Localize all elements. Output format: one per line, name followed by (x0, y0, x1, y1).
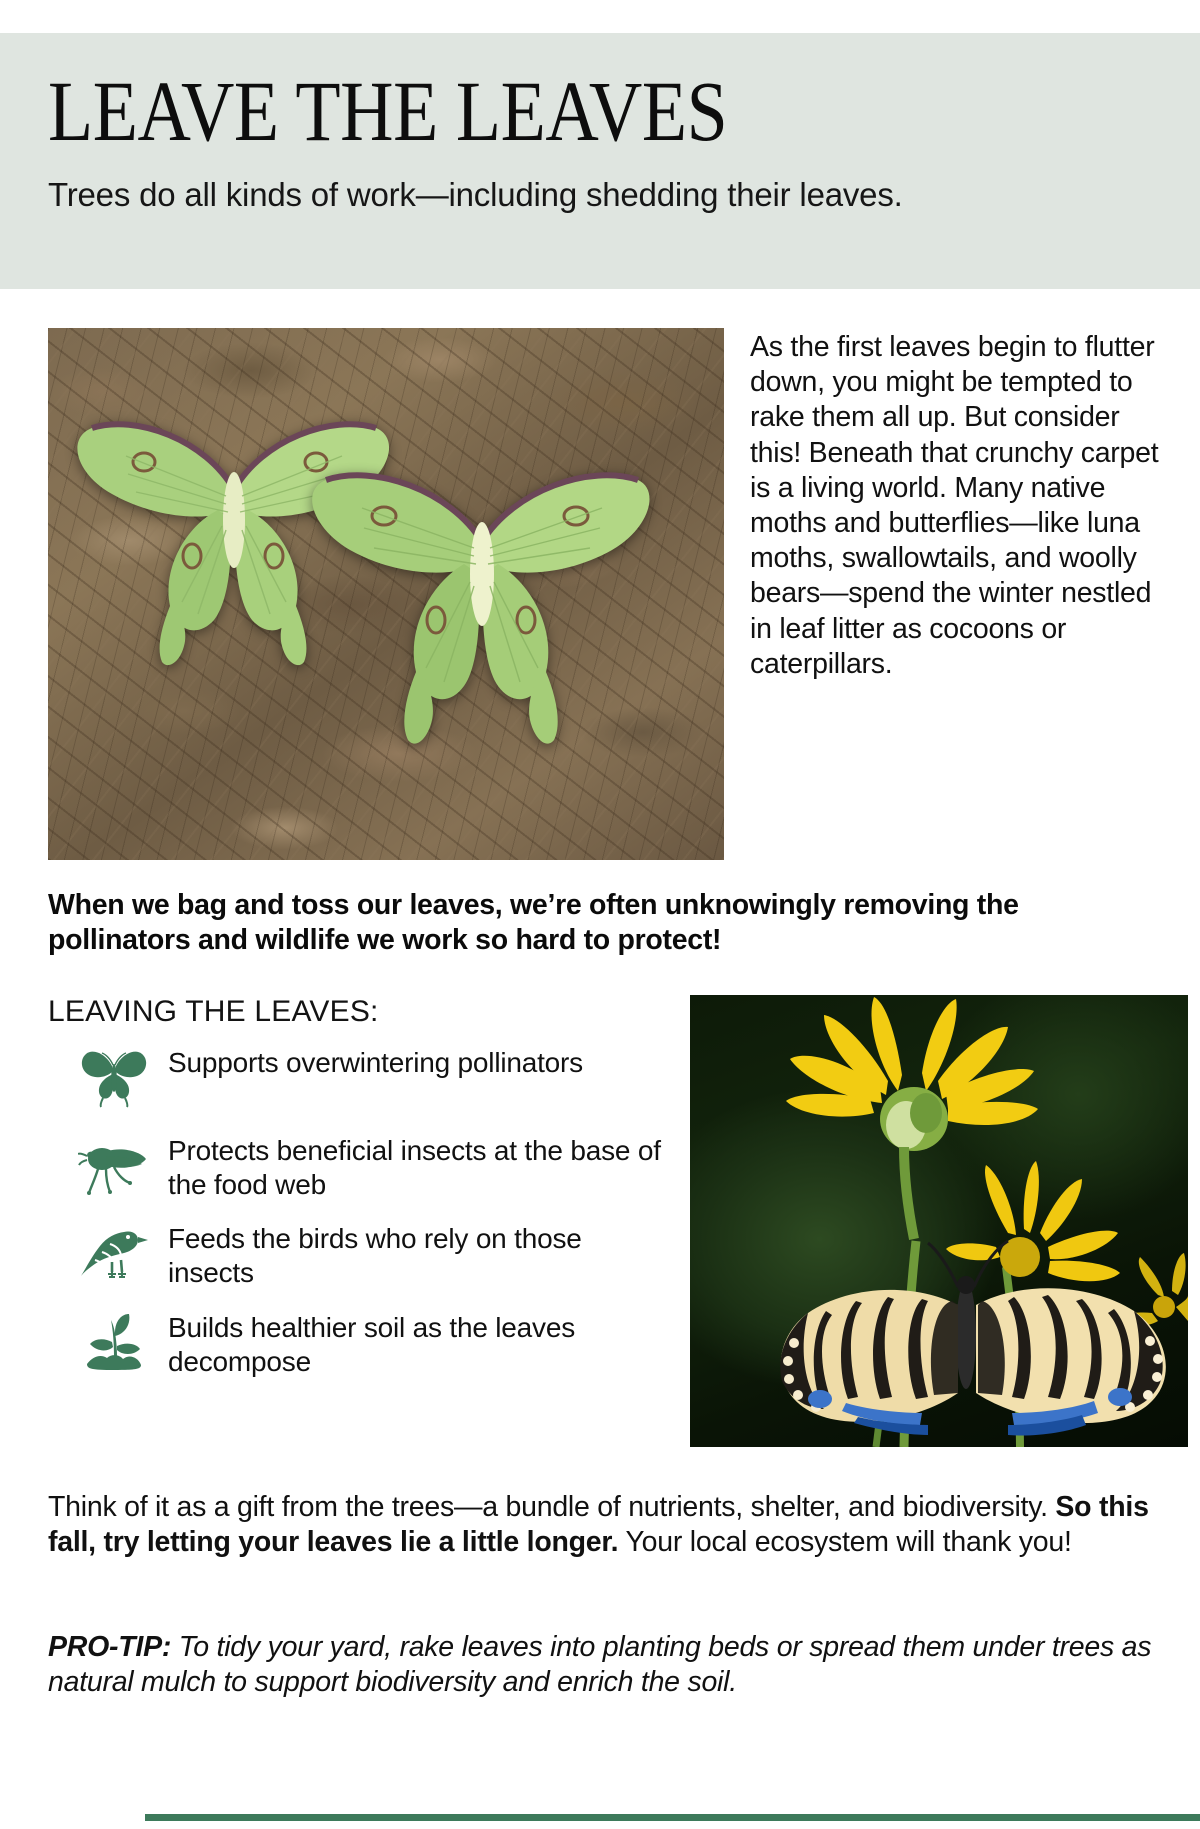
swallowtail-photo (690, 995, 1188, 1447)
intro-section: As the first leaves begin to flutter dow… (48, 328, 1168, 860)
butterfly-icon (76, 1042, 152, 1114)
luna-moth-photo (48, 328, 724, 860)
infographic-page: LEAVE THE LEAVES Trees do all kinds of w… (0, 0, 1200, 1829)
beetle-icon (76, 1130, 152, 1202)
benefits-list: LEAVING THE LEAVES: (48, 995, 668, 1395)
footer-divider (145, 1814, 1200, 1821)
header-band: LEAVE THE LEAVES Trees do all kinds of w… (0, 33, 1200, 289)
intro-paragraph: As the first leaves begin to flutter dow… (750, 328, 1168, 682)
seedling-icon (76, 1307, 152, 1379)
list-item: Supports overwintering pollinators (48, 1042, 668, 1114)
closing-tail: Your local ecosystem will thank you! (618, 1526, 1071, 1558)
list-item-label: Builds healthier soil as the leaves deco… (168, 1307, 668, 1379)
page-subtitle: Trees do all kinds of work—including she… (48, 175, 1152, 215)
bird-icon (76, 1218, 152, 1290)
protip-label: PRO-TIP: (48, 1631, 171, 1663)
closing-paragraph: Think of it as a gift from the trees—a b… (48, 1490, 1168, 1560)
page-title: LEAVE THE LEAVES (48, 71, 997, 153)
list-item-label: Protects beneficial insects at the base … (168, 1130, 668, 1202)
closing-lead: Think of it as a gift from the trees—a b… (48, 1491, 1055, 1523)
list-item-label: Feeds the birds who rely on those insect… (168, 1218, 668, 1290)
flower-scene (690, 995, 1188, 1447)
callout-text: When we bag and toss our leaves, we’re o… (48, 888, 1163, 958)
benefits-section: LEAVING THE LEAVES: (48, 995, 1168, 1447)
protip-text: To tidy your yard, rake leaves into plan… (48, 1631, 1151, 1698)
protip-paragraph: PRO-TIP: To tidy your yard, rake leaves … (48, 1630, 1168, 1700)
list-item: Builds healthier soil as the leaves deco… (48, 1307, 668, 1379)
list-item-label: Supports overwintering pollinators (168, 1042, 583, 1080)
luna-moth-illustration-2 (298, 424, 658, 754)
list-item: Protects beneficial insects at the base … (48, 1130, 668, 1202)
benefits-title: LEAVING THE LEAVES: (48, 995, 668, 1028)
list-item: Feeds the birds who rely on those insect… (48, 1218, 668, 1290)
